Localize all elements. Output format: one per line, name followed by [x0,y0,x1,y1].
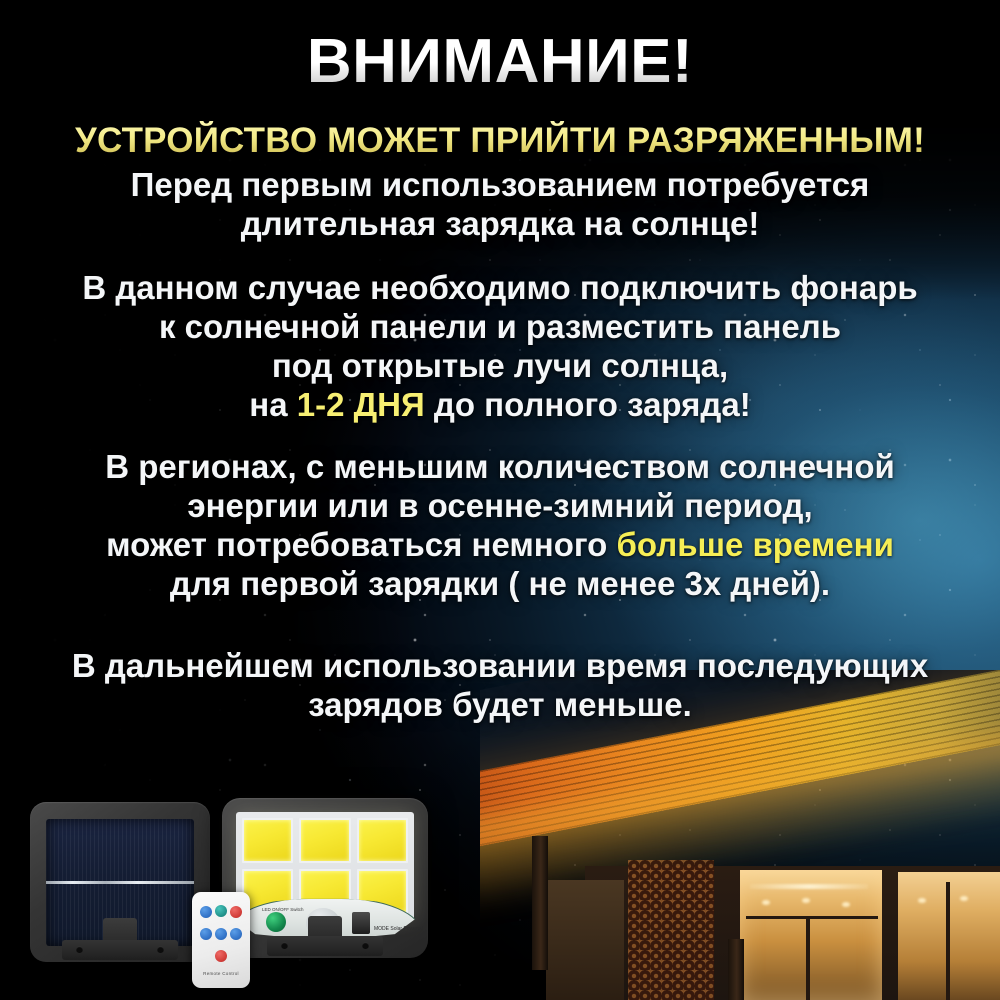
paragraph-line: к солнечной панели и разместить панель [0,308,1000,347]
text-content: ВНИМАНИЕ! УСТРОЙСТВО МОЖЕТ ПРИЙТИ РАЗРЯЖ… [0,0,1000,1000]
highlight-days: 1-2 ДНЯ [297,386,425,423]
paragraph-line: под открытые лучи солнца, [0,347,1000,386]
paragraph-line-highlighted: может потребоваться немного больше време… [0,526,1000,565]
paragraph-line: Перед первым использованием потребуется [0,166,1000,205]
paragraph-first-use: Перед первым использованием потребуется … [0,166,1000,244]
paragraph-line: В регионах, с меньшим количеством солнеч… [0,448,1000,487]
line-prefix: может потребоваться немного [106,526,616,563]
paragraph-line: энергии или в осенне-зимний период, [0,487,1000,526]
paragraph-later-use: В дальнейшем использовании время последу… [0,647,1000,725]
warning-subheading: УСТРОЙСТВО МОЖЕТ ПРИЙТИ РАЗРЯЖЕННЫМ! [0,121,1000,161]
paragraph-connect-panel: В данном случае необходимо подключить фо… [0,269,1000,425]
highlight-more-time: больше времени [617,526,894,563]
paragraph-low-sun-regions: В регионах, с меньшим количеством солнеч… [0,448,1000,604]
paragraph-line: длительная зарядка на солнце! [0,205,1000,244]
paragraph-line-highlighted: на 1-2 ДНЯ до полного заряда! [0,386,1000,425]
paragraph-line: зарядов будет меньше. [0,686,1000,725]
paragraph-line: В дальнейшем использовании время последу… [0,647,1000,686]
line-prefix: на [249,386,296,423]
line-suffix: до полного заряда! [425,386,751,423]
paragraph-line: В данном случае необходимо подключить фо… [0,269,1000,308]
promo-poster: LED ON/OFF Switch MODE Solar Powered Rem… [0,0,1000,1000]
paragraph-line: для первой зарядки ( не менее 3х дней). [0,565,1000,604]
page-title: ВНИМАНИЕ! [0,26,1000,97]
